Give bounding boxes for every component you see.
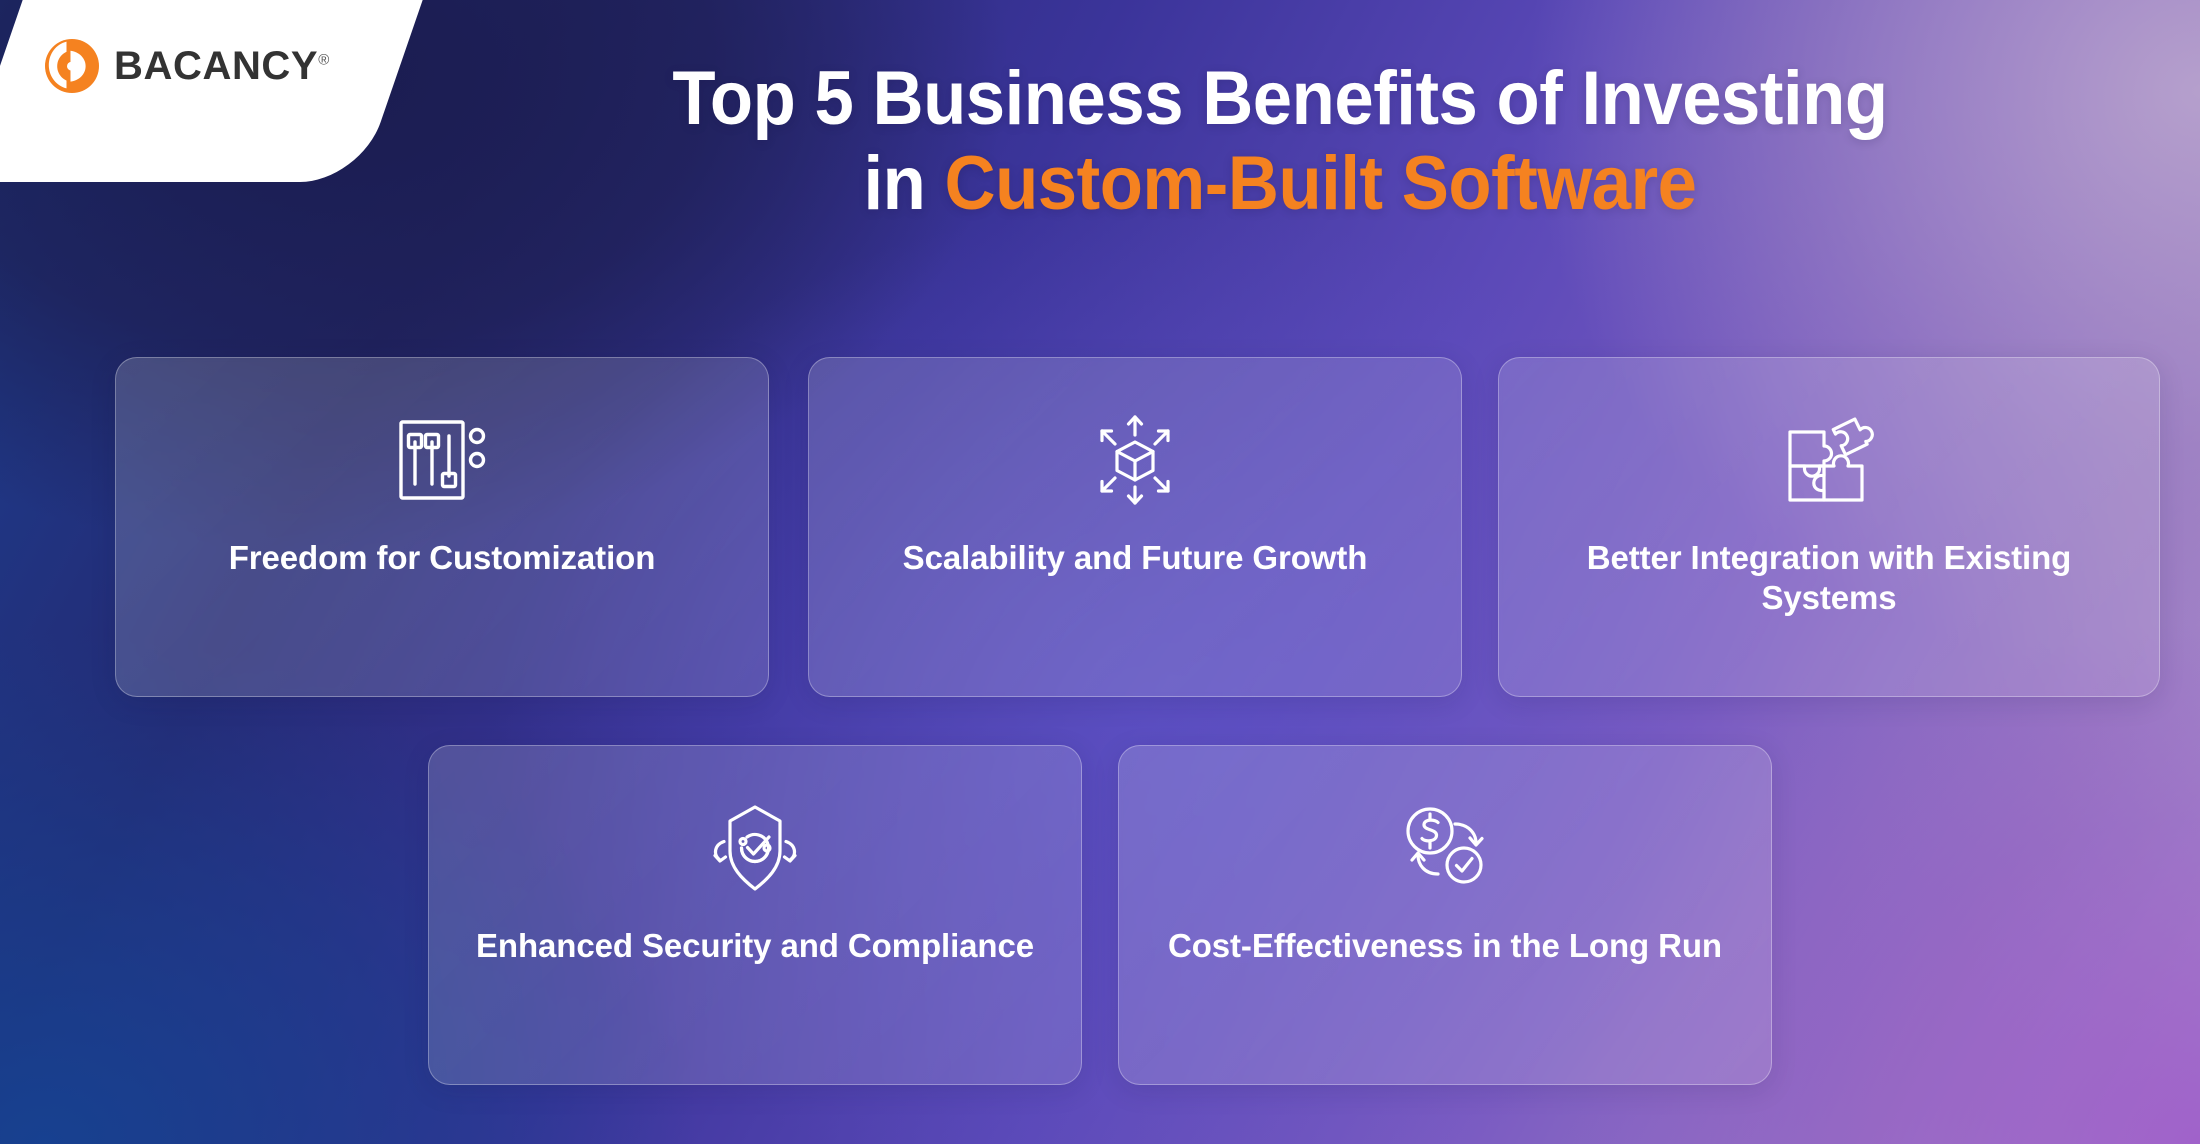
benefit-card-label: Better Integration with Existing Systems (1499, 538, 2159, 619)
benefit-card-label: Cost-Effectiveness in the Long Run (1134, 926, 1756, 966)
benefit-card-label: Enhanced Security and Compliance (442, 926, 1068, 966)
dollar-cycle-check-icon (1397, 800, 1493, 896)
registered-trademark-symbol: ® (318, 52, 330, 69)
title-line-1: Top 5 Business Benefits of Investing (672, 56, 1887, 141)
puzzle-pieces-icon (1781, 412, 1877, 508)
sliders-equalizer-icon (394, 412, 490, 508)
title-line-2-prefix: in (863, 141, 944, 226)
bacancy-b-logo-icon (44, 38, 100, 94)
brand-logo: BACANCY® (44, 38, 330, 94)
title-line-2-accent: Custom-Built Software (945, 141, 1697, 226)
benefit-card-label: Scalability and Future Growth (869, 538, 1402, 578)
shield-check-rotate-icon (707, 800, 803, 896)
benefit-card-enhanced-security-and-compliance[interactable]: Enhanced Security and Compliance (428, 745, 1082, 1085)
cube-expand-arrows-icon (1087, 412, 1183, 508)
benefit-card-label: Freedom for Customization (195, 538, 690, 578)
benefit-card-scalability-and-future-growth[interactable]: Scalability and Future Growth (808, 357, 1462, 697)
benefit-card-cost-effectiveness-in-the-long-run[interactable]: Cost-Effectiveness in the Long Run (1118, 745, 1772, 1085)
infographic-canvas: BACANCY® Top 5 Business Benefits of Inve… (0, 0, 2200, 1144)
brand-wordmark: BACANCY® (114, 46, 330, 86)
brand-name-text: BACANCY (114, 44, 318, 88)
benefit-card-better-integration-with-existing-systems[interactable]: Better Integration with Existing Systems (1498, 357, 2160, 697)
benefit-card-freedom-for-customization[interactable]: Freedom for Customization (115, 357, 769, 697)
page-title: Top 5 Business Benefits of Investing in … (490, 56, 2071, 226)
